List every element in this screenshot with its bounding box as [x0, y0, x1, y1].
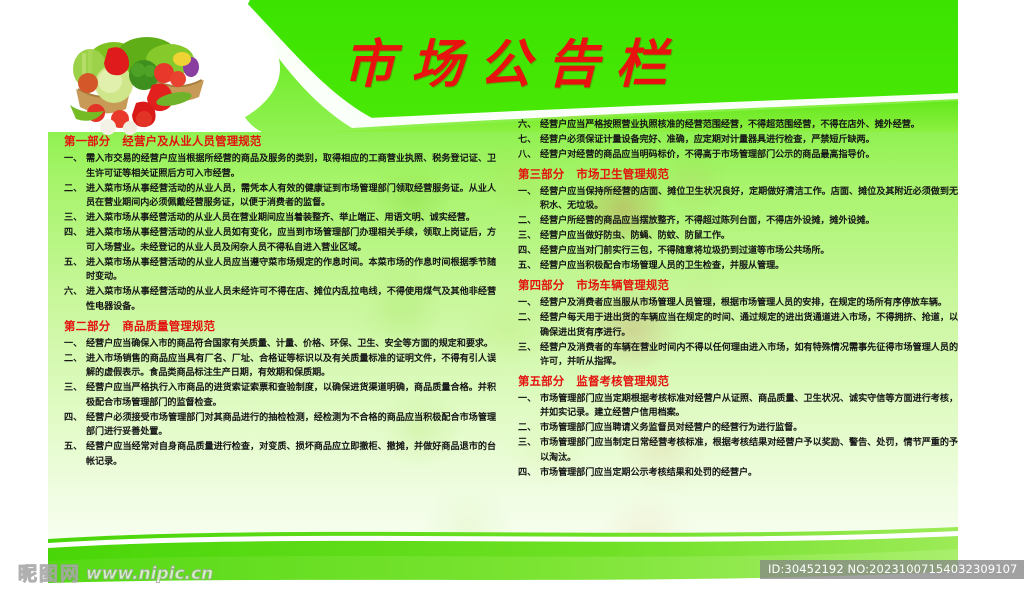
item-number: 五、 — [64, 440, 86, 455]
list-item: 四、 经营户应当对门前实行三包，不得随意将垃圾扔到过道等市场公共场所。 — [518, 244, 958, 259]
item-text: 经营户必须接受市场管理部门对其商品进行的抽检检测，经检测为不合格的商品应当积极配… — [86, 411, 496, 440]
list-item: 三、 进入菜市场从事经营活动的从业人员在营业期间应当着装整齐、举止端正、用语文明… — [64, 211, 496, 226]
list-item: 一、 市场管理部门应当定期根据考核标准对经营户从证照、商品质量、卫生状况、诚实守… — [518, 392, 958, 421]
item-text: 经营户应当严格执行入市商品的进货索证索票和查验制度，以确保进货渠道明确，商品质量… — [86, 381, 496, 410]
list-item: 六、 经营户应当严格按照营业执照核准的经营范围经营，不得超范围经营，不得在店外、… — [518, 118, 958, 133]
item-number: 一、 — [64, 337, 86, 352]
item-text: 经营户每天用于进出货的车辆应当在规定的时间、通过规定的进出货通道进入市场，不得拥… — [540, 311, 958, 340]
item-text: 进入菜市场从事经营活动的从业人员在营业期间应当着装整齐、举止端正、用语文明、诚实… — [86, 211, 496, 226]
item-number: 三、 — [518, 229, 540, 244]
item-number: 六、 — [64, 285, 86, 300]
item-text: 经营户所经营的商品应当摆放整齐，不得超过陈列台面，不得店外设摊，摊外设摊。 — [540, 214, 958, 229]
item-number: 二、 — [64, 182, 86, 197]
poster-canvas: 市场公告栏 第一部分经营户及从业人员管理规范 一、 需入市交易的经营户应当根据所… — [0, 0, 1024, 599]
list-item: 三、 市场管理部门应当制定日常经营考核标准，根据考核结果对经营户予以奖励、警告、… — [518, 436, 958, 465]
item-text: 进入菜市场从事经营活动的从业人员如有变化，应当到市场管理部门办理相关手续，领取上… — [86, 226, 496, 255]
list-item: 八、 经营户对经营的商品应当明码标价，不得高于市场管理部门公示的商品最高指导价。 — [518, 148, 958, 163]
item-text: 市场管理部门应当制定日常经营考核标准，根据考核结果对经营户予以奖励、警告、处罚，… — [540, 436, 958, 465]
item-text: 需入市交易的经营户应当根据所经营的商品及服务的类别，取得相应的工商营业执照、税务… — [86, 152, 496, 181]
item-text: 经营户应当经常对自身商品质量进行检查，对变质、损坏商品应立即撤柜、撤摊，并做好商… — [86, 440, 496, 469]
page-title: 市场公告栏 — [318, 33, 708, 99]
section-heading-1-title: 经营户及从业人员管理规范 — [122, 134, 261, 148]
watermark-logo-char-1: 昵 — [18, 562, 37, 586]
item-number: 四、 — [518, 466, 540, 481]
item-number: 八、 — [518, 148, 540, 163]
vegetable-basket-image — [52, 27, 222, 135]
list-item: 一、 经营户及消费者应当服从市场管理人员管理，根据市场管理人员的安排，在规定的场… — [518, 296, 958, 311]
section-heading-5: 第五部分监督考核管理规范 — [518, 372, 958, 391]
item-text: 进入市场销售的商品应当具有厂名、厂址、合格证等标识以及有关质量标准的证明文件，不… — [86, 352, 496, 381]
item-number: 二、 — [518, 214, 540, 229]
item-text: 经营户对经营的商品应当明码标价，不得高于市场管理部门公示的商品最高指导价。 — [540, 148, 958, 163]
item-text: 市场管理部门应当聘请义务监督员对经营户的经营行为进行监督。 — [540, 421, 958, 436]
item-text: 经营户应当保持所经营的店面、摊位卫生状况良好，定期做好清洁工作。店面、摊位及其附… — [540, 185, 958, 214]
item-text: 经营户及消费者的车辆在营业时间内不得以任何理由进入市场，如有特殊情况需事先征得市… — [540, 341, 958, 370]
section-heading-2-title: 商品质量管理规范 — [122, 319, 215, 333]
item-number: 七、 — [518, 133, 540, 148]
right-text-column: 六、 经营户应当严格按照营业执照核准的经营范围经营，不得超范围经营，不得在店外、… — [518, 118, 958, 481]
item-text: 市场管理部门应当定期公示考核结果和处罚的经营户。 — [540, 466, 958, 481]
list-item: 二、 经营户所经营的商品应当摆放整齐，不得超过陈列台面，不得店外设摊，摊外设摊。 — [518, 214, 958, 229]
item-text: 进入菜市场从事经营活动的从业人员未经许可不得在店、摊位内乱拉电线，不得使用煤气及… — [86, 285, 496, 314]
item-number: 三、 — [64, 381, 86, 396]
item-number: 一、 — [518, 185, 540, 200]
item-text: 经营户必须保证计量设备完好、准确，应定期对计量器具进行检查，严禁短斤缺两。 — [540, 133, 958, 148]
item-text: 经营户应当严格按照营业执照核准的经营范围经营，不得超范围经营，不得在店外、摊外经… — [540, 118, 958, 133]
item-number: 一、 — [64, 152, 86, 167]
list-item: 五、 经营户应当经常对自身商品质量进行检查，对变质、损坏商品应立即撤柜、撤摊，并… — [64, 440, 496, 469]
list-item: 一、 经营户应当保持所经营的店面、摊位卫生状况良好，定期做好清洁工作。店面、摊位… — [518, 185, 958, 214]
section-heading-4-title: 市场车辆管理规范 — [576, 278, 669, 292]
section-heading-3-title: 市场卫生管理规范 — [576, 167, 669, 181]
list-item: 六、 进入菜市场从事经营活动的从业人员未经许可不得在店、摊位内乱拉电线，不得使用… — [64, 285, 496, 314]
section-heading-1-no: 第一部分 — [64, 134, 110, 148]
item-number: 五、 — [518, 259, 540, 274]
list-item: 三、 经营户应当做好防虫、防蝇、防蚊、防鼠工作。 — [518, 229, 958, 244]
section-heading-4: 第四部分市场车辆管理规范 — [518, 276, 958, 295]
item-number: 四、 — [64, 411, 86, 426]
list-item: 二、 市场管理部门应当聘请义务监督员对经营户的经营行为进行监督。 — [518, 421, 958, 436]
list-item: 三、 经营户应当严格执行入市商品的进货索证索票和查验制度，以确保进货渠道明确，商… — [64, 381, 496, 410]
list-item: 五、 进入菜市场从事经营活动的从业人员应当遵守菜市场规定的作息时间。本菜市场的作… — [64, 256, 496, 285]
section-heading-2-no: 第二部分 — [64, 319, 110, 333]
list-item: 三、 经营户及消费者的车辆在营业时间内不得以任何理由进入市场，如有特殊情况需事先… — [518, 341, 958, 370]
list-item: 四、 市场管理部门应当定期公示考核结果和处罚的经营户。 — [518, 466, 958, 481]
section-heading-4-no: 第四部分 — [518, 278, 564, 292]
list-item: 二、 经营户每天用于进出货的车辆应当在规定的时间、通过规定的进出货通道进入市场，… — [518, 311, 958, 340]
section-heading-3: 第三部分市场卫生管理规范 — [518, 165, 958, 184]
item-text: 经营户应当做好防虫、防蝇、防蚊、防鼠工作。 — [540, 229, 958, 244]
image-id-label: ID:30452192 NO:20231007154032309107 — [760, 560, 1024, 579]
item-number: 三、 — [518, 436, 540, 451]
item-number: 二、 — [64, 352, 86, 367]
list-item: 四、 经营户必须接受市场管理部门对其商品进行的抽检检测，经检测为不合格的商品应当… — [64, 411, 496, 440]
item-text: 进入菜市场从事经营活动的从业人员，需凭本人有效的健康证到市场管理部门领取经营服务… — [86, 182, 496, 211]
item-number: 二、 — [518, 421, 540, 436]
section-heading-2: 第二部分商品质量管理规范 — [64, 317, 496, 336]
section-heading-1: 第一部分经营户及从业人员管理规范 — [64, 132, 496, 151]
item-number: 四、 — [64, 226, 86, 241]
item-number: 二、 — [518, 311, 540, 326]
list-item: 五、 经营户应当积极配合市场管理人员的卫生检查，并服从管理。 — [518, 259, 958, 274]
section-heading-5-no: 第五部分 — [518, 374, 564, 388]
item-text: 经营户及消费者应当服从市场管理人员管理，根据市场管理人员的安排，在规定的场所有序… — [540, 296, 958, 311]
item-text: 经营户应当确保入市的商品符合国家有关质量、计量、价格、环保、卫生、安全等方面的规… — [86, 337, 496, 352]
item-text: 经营户应当对门前实行三包，不得随意将垃圾扔到过道等市场公共场所。 — [540, 244, 958, 259]
list-item: 一、 需入市交易的经营户应当根据所经营的商品及服务的类别，取得相应的工商营业执照… — [64, 152, 496, 181]
list-item: 一、 经营户应当确保入市的商品符合国家有关质量、计量、价格、环保、卫生、安全等方… — [64, 337, 496, 352]
section-heading-3-no: 第三部分 — [518, 167, 564, 181]
item-text: 经营户应当积极配合市场管理人员的卫生检查，并服从管理。 — [540, 259, 958, 274]
item-number: 三、 — [64, 211, 86, 226]
left-text-column: 第一部分经营户及从业人员管理规范 一、 需入市交易的经营户应当根据所经营的商品及… — [64, 130, 496, 470]
item-number: 五、 — [64, 256, 86, 271]
item-number: 四、 — [518, 244, 540, 259]
item-number: 三、 — [518, 341, 540, 356]
item-number: 六、 — [518, 118, 540, 133]
item-text: 进入菜市场从事经营活动的从业人员应当遵守菜市场规定的作息时间。本菜市场的作息时间… — [86, 256, 496, 285]
item-number: 一、 — [518, 296, 540, 311]
item-number: 一、 — [518, 392, 540, 407]
section-heading-5-title: 监督考核管理规范 — [576, 374, 669, 388]
list-item: 七、 经营户必须保证计量设备完好、准确，应定期对计量器具进行检查，严禁短斤缺两。 — [518, 133, 958, 148]
list-item: 二、 进入菜市场从事经营活动的从业人员，需凭本人有效的健康证到市场管理部门领取经… — [64, 182, 496, 211]
list-item: 二、 进入市场销售的商品应当具有厂名、厂址、合格证等标识以及有关质量标准的证明文… — [64, 352, 496, 381]
list-item: 四、 进入菜市场从事经营活动的从业人员如有变化，应当到市场管理部门办理相关手续，… — [64, 226, 496, 255]
item-text: 市场管理部门应当定期根据考核标准对经营户从证照、商品质量、卫生状况、诚实守信等方… — [540, 392, 958, 421]
